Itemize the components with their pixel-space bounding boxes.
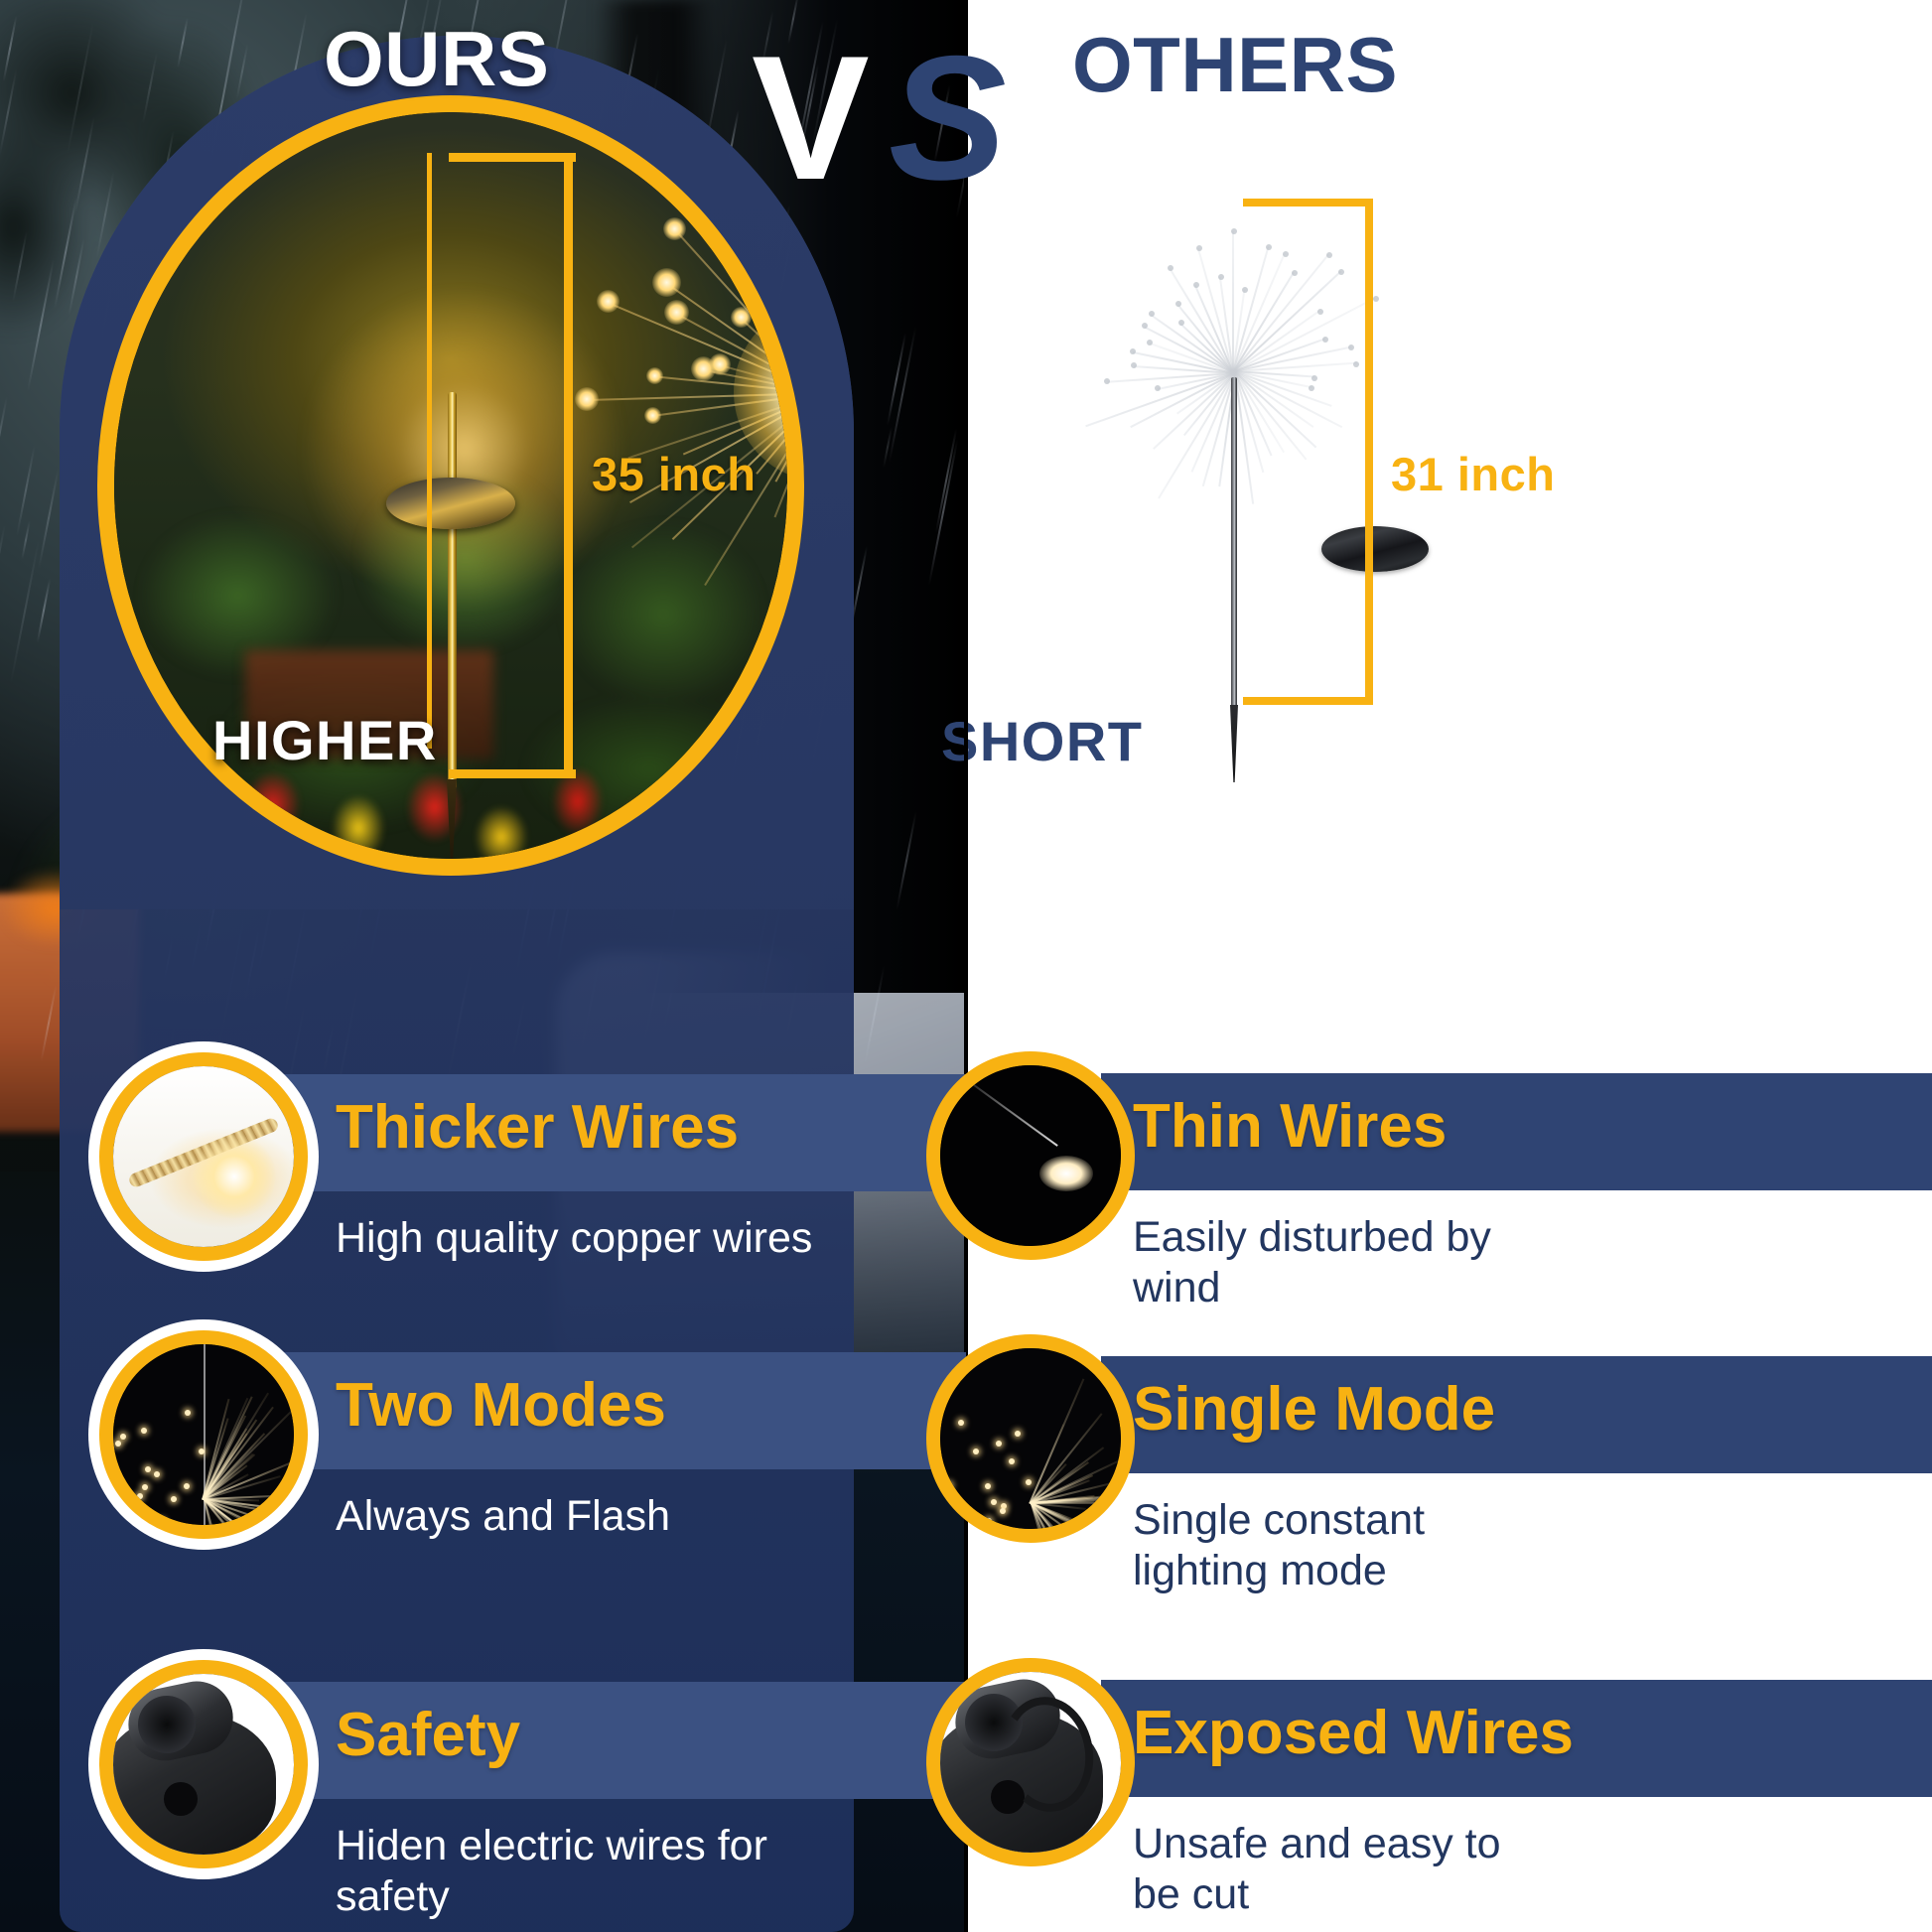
others-product-photo <box>1095 199 1373 715</box>
feature-title: Single Mode <box>1133 1374 1495 1445</box>
measure-vertical <box>1365 199 1373 705</box>
vs-letter-s: S <box>889 30 1007 207</box>
measure-inner-guide <box>427 153 432 749</box>
feature-title: Two Modes <box>336 1370 666 1441</box>
feature-row-safety: Safety Hiden electric wires for safety <box>0 1608 966 1906</box>
measure-top-tick <box>1243 199 1372 207</box>
measure-bottom-tick <box>1243 697 1372 705</box>
others-heading: OTHERS <box>1072 20 1398 110</box>
ground-spike <box>1230 705 1238 782</box>
sealed-connector-icon <box>99 1660 308 1868</box>
measure-bottom-tick <box>449 769 576 778</box>
comparison-infographic: 35 inch HIGHER 31 inch SHORT OURS OTHERS… <box>0 0 1932 1932</box>
solar-panel <box>386 478 515 529</box>
measure-vertical <box>564 153 573 778</box>
feature-subtitle: Always and Flash <box>336 1491 951 1542</box>
feature-subtitle: Hiden electric wires for safety <box>336 1821 832 1921</box>
two-lighting-modes-icon <box>99 1330 308 1539</box>
feature-subtitle: High quality copper wires <box>336 1213 951 1264</box>
feature-title: Thin Wires <box>1133 1091 1447 1162</box>
feature-subtitle: Easily disturbed by wind <box>1133 1212 1550 1312</box>
feature-row-thicker-wires: Thicker Wires High quality copper wires <box>0 1052 966 1291</box>
feature-row-single-mode: Single Mode Single constant lighting mod… <box>966 1311 1932 1549</box>
ours-heading: OURS <box>324 14 549 104</box>
feature-row-thin-wires: Thin Wires Easily disturbed by wind <box>966 1028 1932 1266</box>
others-verdict-label: SHORT <box>941 709 1144 773</box>
single-lighting-mode-icon <box>926 1334 1135 1543</box>
measure-top-tick <box>449 153 576 162</box>
ours-verdict-label: HIGHER <box>212 708 438 772</box>
feature-title: Exposed Wires <box>1133 1698 1574 1768</box>
solar-panel <box>1321 526 1429 572</box>
thin-wire-strand-icon <box>926 1051 1135 1260</box>
feature-row-two-modes: Two Modes Always and Flash <box>0 1330 966 1569</box>
ours-measurement-label: 35 inch <box>592 447 756 501</box>
others-measurement-label: 31 inch <box>1391 447 1555 501</box>
light-stem <box>448 392 457 789</box>
light-stem <box>1231 377 1237 715</box>
copper-wire-bundle-icon <box>99 1052 308 1261</box>
feature-subtitle: Unsafe and easy to be cut <box>1133 1819 1560 1919</box>
vs-badge: V S <box>752 30 1039 228</box>
feature-subtitle: Single constant lighting mode <box>1133 1495 1550 1595</box>
feature-title: Thicker Wires <box>336 1092 739 1163</box>
feature-row-exposed-wires: Exposed Wires Unsafe and easy to be cut <box>966 1598 1932 1896</box>
feature-title: Safety <box>336 1700 520 1770</box>
vs-letter-v: V <box>752 30 864 207</box>
exposed-connector-icon <box>926 1658 1135 1866</box>
